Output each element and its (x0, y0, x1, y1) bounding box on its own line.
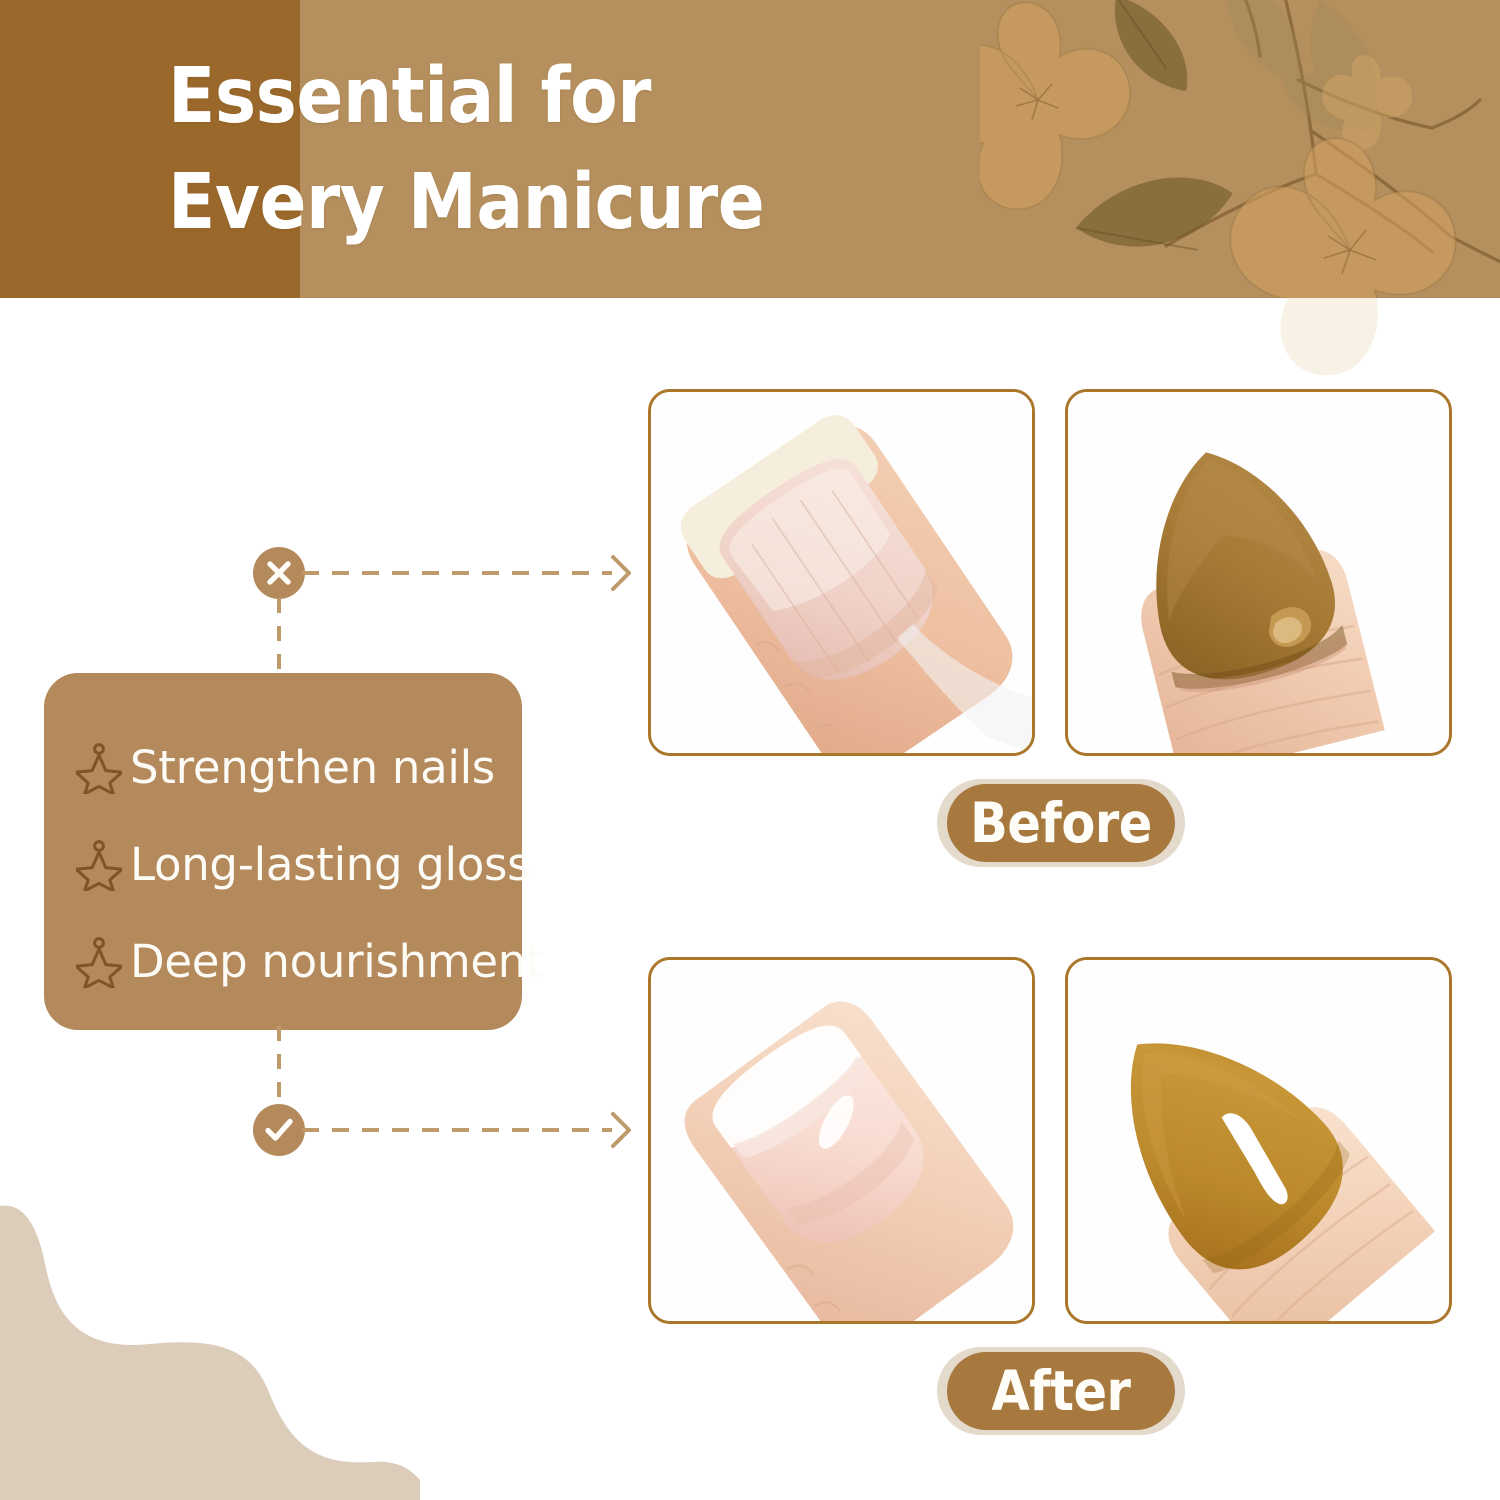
connector-card-to-check (258, 1024, 300, 1110)
cross-marker (253, 547, 305, 599)
feature-list-card: Strengthen nails Long-lasting gloss Deep… (44, 673, 522, 1030)
star-charm-icon (68, 742, 130, 794)
cross-icon (266, 560, 292, 586)
infographic-canvas: Essential for Every Manicure Strengthen … (0, 0, 1500, 1500)
feature-item-long-lasting-gloss: Long-lasting gloss (68, 816, 522, 913)
connector-arrow-to-after (300, 1109, 640, 1151)
check-marker (253, 1104, 305, 1156)
photo-before-polished-nail (1065, 389, 1452, 756)
after-badge: After (937, 1347, 1185, 1435)
check-icon (264, 1117, 294, 1143)
star-charm-icon (68, 839, 130, 891)
connector-x-to-card (258, 596, 300, 682)
corner-wave-decoration (0, 1200, 420, 1500)
feature-item-label: Long-lasting gloss (130, 842, 530, 887)
before-badge-pill: Before (947, 784, 1175, 862)
star-charm-icon (68, 936, 130, 988)
connector-arrow-to-before (300, 552, 640, 594)
feature-item-deep-nourishment: Deep nourishment (68, 913, 522, 1010)
feature-item-label: Deep nourishment (130, 939, 543, 984)
photo-after-natural-nail (648, 957, 1035, 1324)
page-title: Essential for Every Manicure (168, 44, 1068, 257)
photo-before-natural-nail (648, 389, 1035, 756)
before-badge-label: Before (970, 796, 1152, 851)
feature-item-strengthen-nails: Strengthen nails (68, 719, 522, 816)
after-badge-pill: After (947, 1352, 1175, 1430)
photo-after-polished-nail (1065, 957, 1452, 1324)
before-badge: Before (937, 779, 1185, 867)
feature-item-label: Strengthen nails (130, 745, 495, 790)
after-badge-label: After (992, 1364, 1131, 1419)
